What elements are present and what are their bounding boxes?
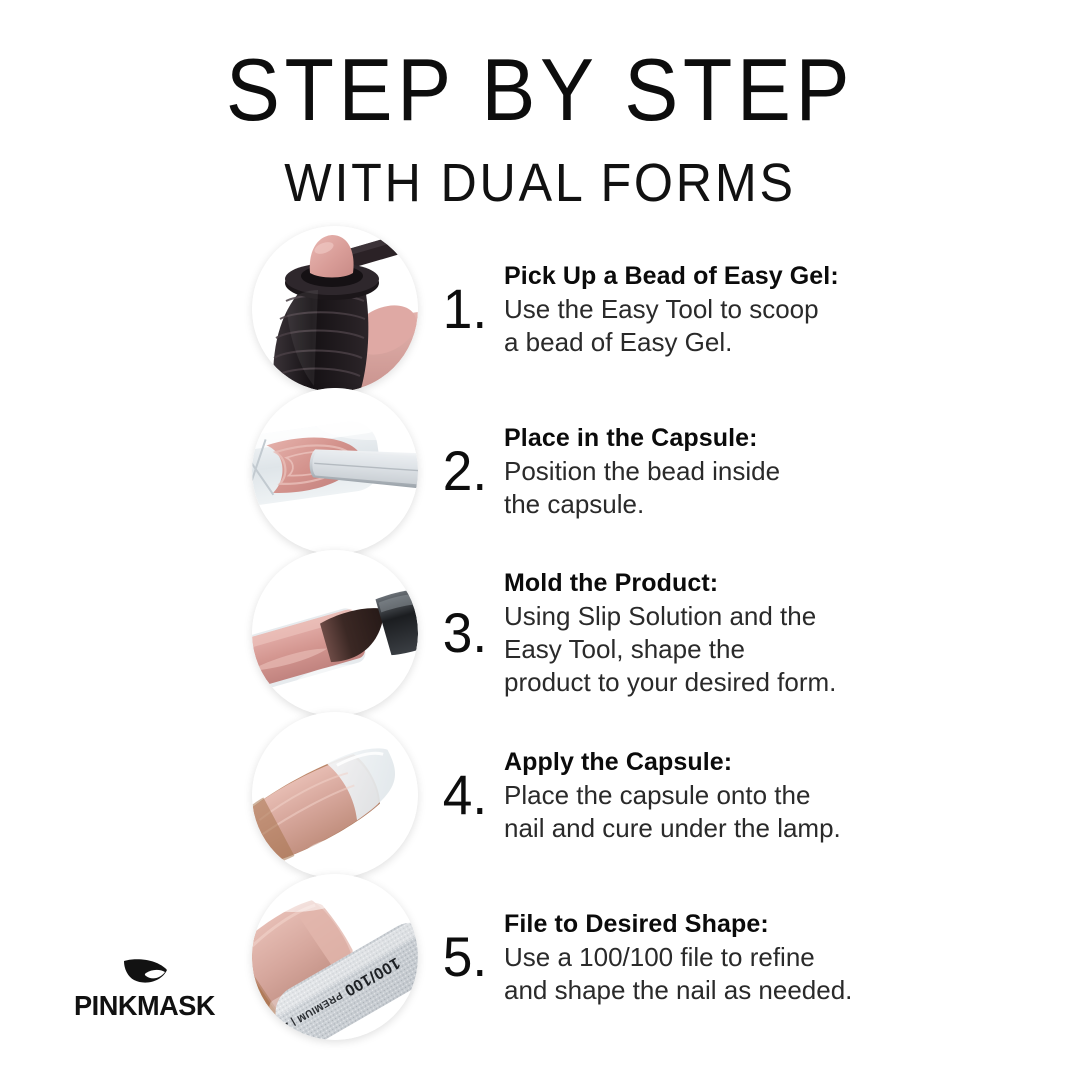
step-body-line: and shape the nail as needed. (504, 974, 1050, 1007)
step-text: Apply the Capsule: Place the capsule ont… (502, 746, 1080, 845)
step-item: 1. Pick Up a Bead of Easy Gel: Use the E… (0, 228, 1080, 390)
step-body: Position the bead inside the capsule. (504, 455, 1050, 521)
step-body-line: product to your desired form. (504, 666, 1050, 699)
step-body: Place the capsule onto the nail and cure… (504, 779, 1050, 845)
step-body: Use a 100/100 file to refine and shape t… (504, 941, 1050, 1007)
page-title: STEP BY STEP (43, 46, 1037, 134)
step-body-line: Place the capsule onto the (504, 779, 1050, 812)
step-number: 1. (436, 281, 495, 337)
brand-logo: PINKMASK (74, 958, 234, 1022)
step-title: Apply the Capsule: (504, 746, 1050, 779)
step-number: 5. (436, 929, 495, 985)
step-title: Pick Up a Bead of Easy Gel: (504, 260, 1050, 293)
step-text: Pick Up a Bead of Easy Gel: Use the Easy… (502, 260, 1080, 359)
photo-capsule-on-nail (252, 712, 418, 878)
header: STEP BY STEP WITH DUAL FORMS (0, 46, 1080, 210)
step-body-line: Easy Tool, shape the (504, 633, 1050, 666)
step-text: File to Desired Shape: Use a 100/100 fil… (502, 908, 1080, 1007)
leaf-mask-icon (122, 958, 170, 986)
step-item: 2. Place in the Capsule: Position the be… (0, 390, 1080, 552)
photo-molding-with-brush (252, 550, 418, 716)
step-body-line: the capsule. (504, 488, 1050, 521)
step-number: 3. (436, 605, 495, 661)
step-text: Mold the Product: Using Slip Solution an… (502, 567, 1080, 699)
step-body-line: a bead of Easy Gel. (504, 326, 1050, 359)
step-title: File to Desired Shape: (504, 908, 1050, 941)
photo-gel-bottle-with-bead (252, 226, 418, 392)
step-text: Place in the Capsule: Position the bead … (502, 422, 1080, 521)
brand-name: PINKMASK (74, 990, 229, 1022)
step-body-line: nail and cure under the lamp. (504, 812, 1050, 845)
step-number: 4. (436, 767, 495, 823)
step-body-line: Use a 100/100 file to refine (504, 941, 1050, 974)
steps-list: 1. Pick Up a Bead of Easy Gel: Use the E… (0, 228, 1080, 1038)
step-title: Place in the Capsule: (504, 422, 1050, 455)
step-item: 3. Mold the Product: Using Slip Solution… (0, 552, 1080, 714)
step-body: Using Slip Solution and the Easy Tool, s… (504, 600, 1050, 699)
step-number: 2. (436, 443, 495, 499)
step-title: Mold the Product: (504, 567, 1050, 600)
photo-bead-in-capsule (252, 388, 418, 554)
step-item: 4. Apply the Capsule: Place the capsule … (0, 714, 1080, 876)
infographic-page: STEP BY STEP WITH DUAL FORMS (0, 0, 1080, 1080)
photo-filing-nail: 100/100 PREMIUM | ZEBRA (252, 874, 418, 1040)
page-subtitle: WITH DUAL FORMS (38, 156, 1042, 210)
step-body: Use the Easy Tool to scoop a bead of Eas… (504, 293, 1050, 359)
step-body-line: Position the bead inside (504, 455, 1050, 488)
step-body-line: Use the Easy Tool to scoop (504, 293, 1050, 326)
step-body-line: Using Slip Solution and the (504, 600, 1050, 633)
